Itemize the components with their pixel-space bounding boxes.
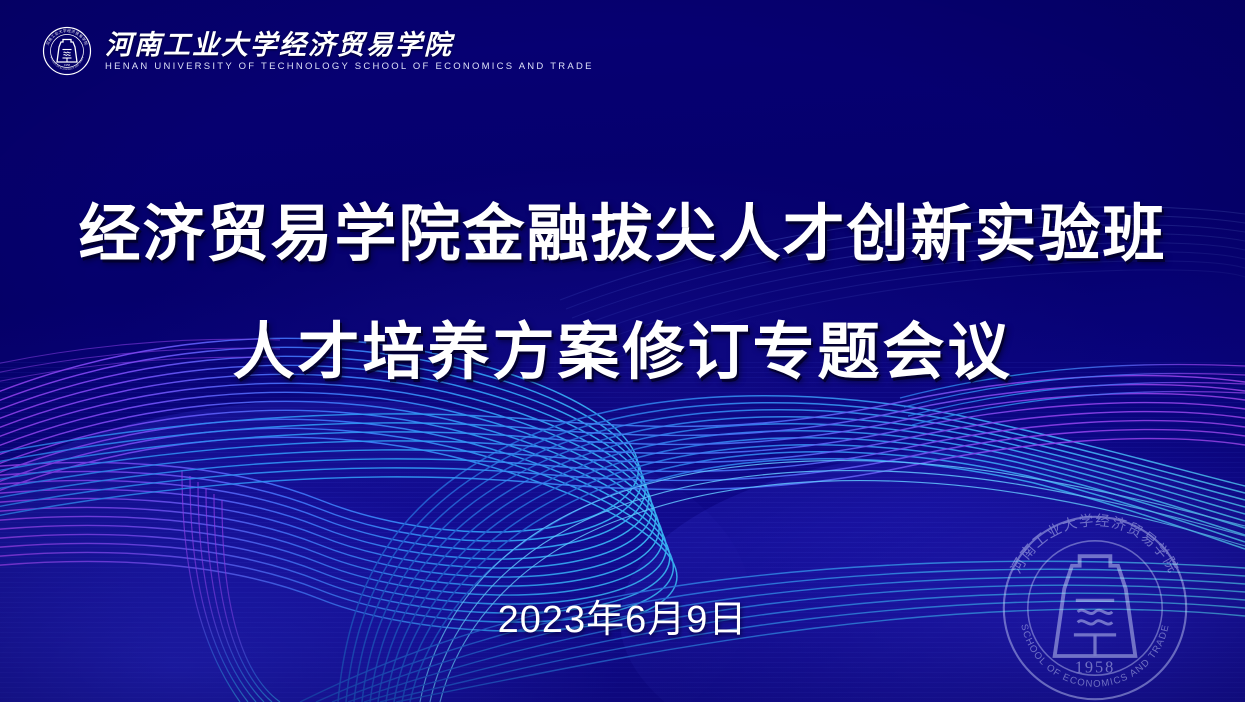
- title-line-2: 人才培养方案修订专题会议: [0, 294, 1245, 412]
- school-seal-icon: 河南工业大学经济贸易学院 SCHOOL OF ECONOMICS AND TRA…: [42, 26, 92, 76]
- institution-header: 河南工业大学经济贸易学院 SCHOOL OF ECONOMICS AND TRA…: [42, 26, 594, 76]
- svg-text:1958: 1958: [64, 63, 71, 67]
- slide-title: 经济贸易学院金融拔尖人才创新实验班 人才培养方案修订专题会议: [0, 176, 1245, 412]
- presentation-title-slide: 河南工业大学经济贸易学院 SCHOOL OF ECONOMICS AND TRA…: [0, 0, 1245, 702]
- title-line-1: 经济贸易学院金融拔尖人才创新实验班: [0, 176, 1245, 294]
- institution-name-chinese: 河南工业大学经济贸易学院: [105, 31, 594, 59]
- svg-text:河南工业大学经济贸易学院: 河南工业大学经济贸易学院: [45, 28, 89, 46]
- institution-header-text: 河南工业大学经济贸易学院 HENAN UNIVERSITY OF TECHNOL…: [105, 31, 594, 72]
- institution-name-english: HENAN UNIVERSITY OF TECHNOLOGY SCHOOL OF…: [105, 62, 594, 72]
- meeting-date: 2023年6月9日: [0, 596, 1245, 644]
